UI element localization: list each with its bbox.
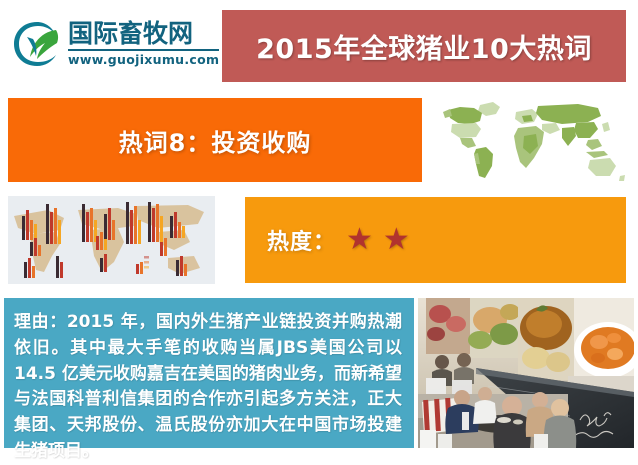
logo-name-cn: 国际畜牧网 bbox=[68, 21, 219, 47]
star-icon-2: ★ bbox=[383, 225, 410, 255]
reason-text: 理由：2015 年，国内外生猪产业链投资并购热潮依旧。其中最大手笔的收购当属JB… bbox=[14, 310, 402, 465]
title-banner: 2015年全球猪业10大热词 bbox=[222, 10, 626, 82]
heat-stars: ★ ★ bbox=[346, 225, 410, 255]
heat-label: 热度： bbox=[267, 224, 336, 256]
heat-rating-banner: 热度： ★ ★ bbox=[245, 197, 626, 283]
page-title: 2015年全球猪业10大热词 bbox=[256, 27, 592, 66]
slide-page: 国际畜牧网 www.guojixumu.com 2015年全球猪业10大热词 热… bbox=[0, 0, 638, 452]
swoosh-leaf-logo-icon bbox=[12, 19, 62, 69]
reason-panel: 理由：2015 年，国内外生猪产业链投资并购热潮依旧。其中最大手笔的收购当属JB… bbox=[4, 298, 414, 448]
keyword-label: 热词8：投资收购 bbox=[119, 123, 312, 158]
restaurant-cafe-photo-icon bbox=[418, 298, 634, 448]
world-map-bar-chart-icon bbox=[8, 196, 215, 284]
logo-divider bbox=[68, 49, 219, 51]
site-logo[interactable]: 国际畜牧网 www.guojixumu.com bbox=[12, 8, 217, 80]
keyword-banner: 热词8：投资收购 bbox=[8, 98, 422, 182]
world-map-green-icon bbox=[438, 96, 628, 184]
star-icon-1: ★ bbox=[346, 225, 373, 255]
logo-url: www.guojixumu.com bbox=[68, 52, 219, 67]
